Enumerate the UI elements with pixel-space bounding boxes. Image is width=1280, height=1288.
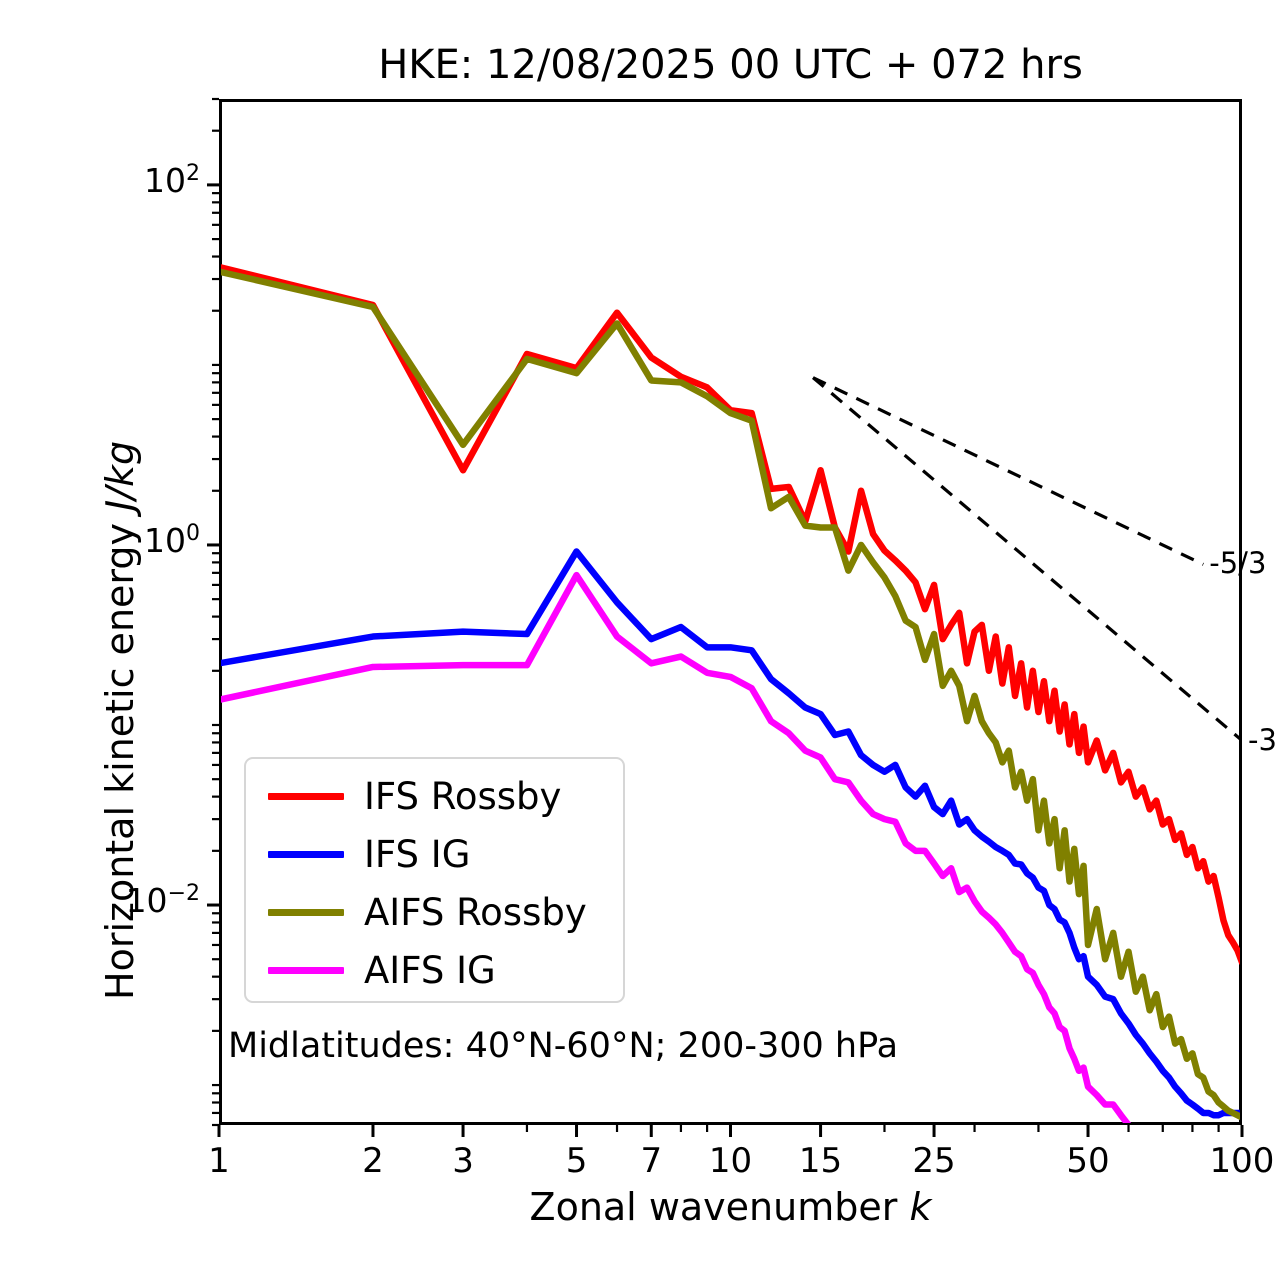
x-tick-label: 2 (362, 1141, 384, 1181)
y-axis-label-prefix: Horizontal kinetic energy (98, 511, 142, 1000)
legend-box[interactable]: IFS RossbyIFS IGAIFS RossbyAIFS IG (244, 757, 625, 1003)
y-tick-label: 10−2 (0, 881, 200, 920)
legend-item-ifs-rossby[interactable]: IFS Rossby (246, 767, 623, 825)
x-tick-label: 5 (566, 1141, 588, 1181)
reference-line-label-minus-three: -3 (1248, 723, 1277, 757)
legend-item-aifs-ig[interactable]: AIFS IG (246, 941, 623, 999)
legend-swatch-icon (268, 851, 344, 858)
legend-swatch-icon (268, 967, 344, 974)
x-tick-label: 1 (208, 1141, 230, 1181)
x-tick-label: 7 (640, 1141, 662, 1181)
legend-item-label: AIFS Rossby (364, 894, 587, 931)
y-tick-label: 102 (0, 161, 200, 200)
y-tick-label: 100 (0, 521, 200, 560)
x-tick-label: 10 (709, 1141, 752, 1181)
legend-item-label: AIFS IG (364, 952, 496, 989)
x-tick-label: 50 (1066, 1141, 1109, 1181)
legend-item-ifs-ig[interactable]: IFS IG (246, 825, 623, 883)
x-axis-label-prefix: Zonal wavenumber (530, 1185, 910, 1229)
legend-item-aifs-rossby[interactable]: AIFS Rossby (246, 883, 623, 941)
x-tick-label: 15 (799, 1141, 842, 1181)
figure-canvas: HKE: 12/08/2025 00 UTC + 072 hrs Horizon… (0, 0, 1280, 1288)
legend-swatch-icon (268, 909, 344, 916)
reference-line-label-five-thirds: -5/3 (1209, 546, 1266, 580)
region-annotation: Midlatitudes: 40°N-60°N; 200-300 hPa (228, 1026, 898, 1066)
legend-item-label: IFS Rossby (364, 778, 561, 815)
legend-swatch-icon (268, 793, 344, 800)
legend-item-label: IFS IG (364, 836, 470, 873)
x-tick-label: 25 (912, 1141, 955, 1181)
x-axis-label-symbol: k (909, 1185, 931, 1229)
x-tick-label: 3 (452, 1141, 474, 1181)
x-axis-label: Zonal wavenumber k (219, 1185, 1242, 1229)
x-tick-label: 100 (1210, 1141, 1275, 1181)
y-axis-label-units: J/kg (98, 441, 142, 511)
